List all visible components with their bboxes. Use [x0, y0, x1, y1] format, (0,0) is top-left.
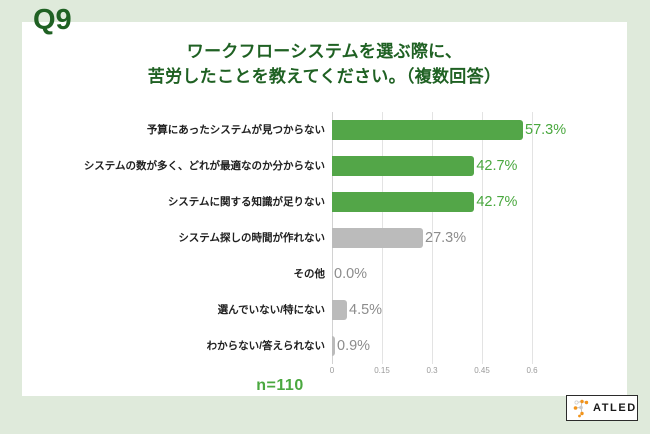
- bar-row: わからない/答えられない0.9%: [332, 328, 557, 364]
- bar: [332, 156, 474, 176]
- bar-row: システムの数が多く、どれが最適なのか分からない42.7%: [332, 148, 557, 184]
- atled-logo-text: ATLED: [593, 403, 637, 414]
- bar: [332, 192, 474, 212]
- x-axis-tick-label: 0: [330, 366, 334, 375]
- bar-value-label: 42.7%: [474, 156, 517, 176]
- bar-value-label: 57.3%: [523, 120, 566, 140]
- bar-category-label: わからない/答えられない: [207, 336, 325, 356]
- x-axis-tick-label: 0.3: [426, 366, 437, 375]
- bar: [332, 120, 523, 140]
- chart-title-line-1: ワークフローシステムを選ぶ際に、: [22, 40, 627, 65]
- bar-row: 予算にあったシステムが見つからない57.3%: [332, 112, 557, 148]
- bar-category-label: システムの数が多く、どれが最適なのか分からない: [84, 156, 325, 176]
- x-axis-ticks: 00.150.30.450.6: [332, 366, 557, 380]
- x-axis-tick-label: 0.6: [526, 366, 537, 375]
- bar-value-label: 42.7%: [474, 192, 517, 212]
- bar-row: システム探しの時間が作れない27.3%: [332, 220, 557, 256]
- atled-dots-logo-icon: [571, 398, 591, 418]
- bar-category-label: その他: [294, 264, 326, 284]
- bar-category-label: システムに関する知識が足りない: [168, 192, 325, 212]
- bar-value-label: 27.3%: [423, 228, 466, 248]
- bar: [332, 228, 423, 248]
- bar-category-label: 予算にあったシステムが見つからない: [147, 120, 325, 140]
- bar-value-label: 4.5%: [347, 300, 382, 320]
- bar-value-label: 0.9%: [335, 336, 370, 356]
- bar-row: システムに関する知識が足りない42.7%: [332, 184, 557, 220]
- bar-chart-plot-area: 予算にあったシステムが見つからない57.3%システムの数が多く、どれが最適なのか…: [332, 112, 557, 364]
- bar: [332, 300, 347, 320]
- bar-value-label: 0.0%: [332, 264, 367, 284]
- bar-rows: 予算にあったシステムが見つからない57.3%システムの数が多く、どれが最適なのか…: [332, 112, 557, 364]
- sample-size-label: n=110: [215, 377, 345, 395]
- bar-category-label: システム探しの時間が作れない: [178, 228, 325, 248]
- bar-category-label: 選んでいない/特にない: [218, 300, 325, 320]
- x-axis-tick-label: 0.45: [474, 366, 490, 375]
- bar-row: 選んでいない/特にない4.5%: [332, 292, 557, 328]
- x-axis-tick-label: 0.15: [374, 366, 390, 375]
- atled-logo: ATLED: [566, 395, 638, 421]
- slide-canvas: Q9 ワークフローシステムを選ぶ際に、 苦労したことを教えてください。（複数回答…: [0, 0, 650, 434]
- bar-row: その他0.0%: [332, 256, 557, 292]
- chart-title: ワークフローシステムを選ぶ際に、 苦労したことを教えてください。（複数回答）: [22, 40, 627, 89]
- chart-title-line-2: 苦労したことを教えてください。（複数回答）: [22, 65, 627, 90]
- question-number-label: Q9: [33, 6, 72, 35]
